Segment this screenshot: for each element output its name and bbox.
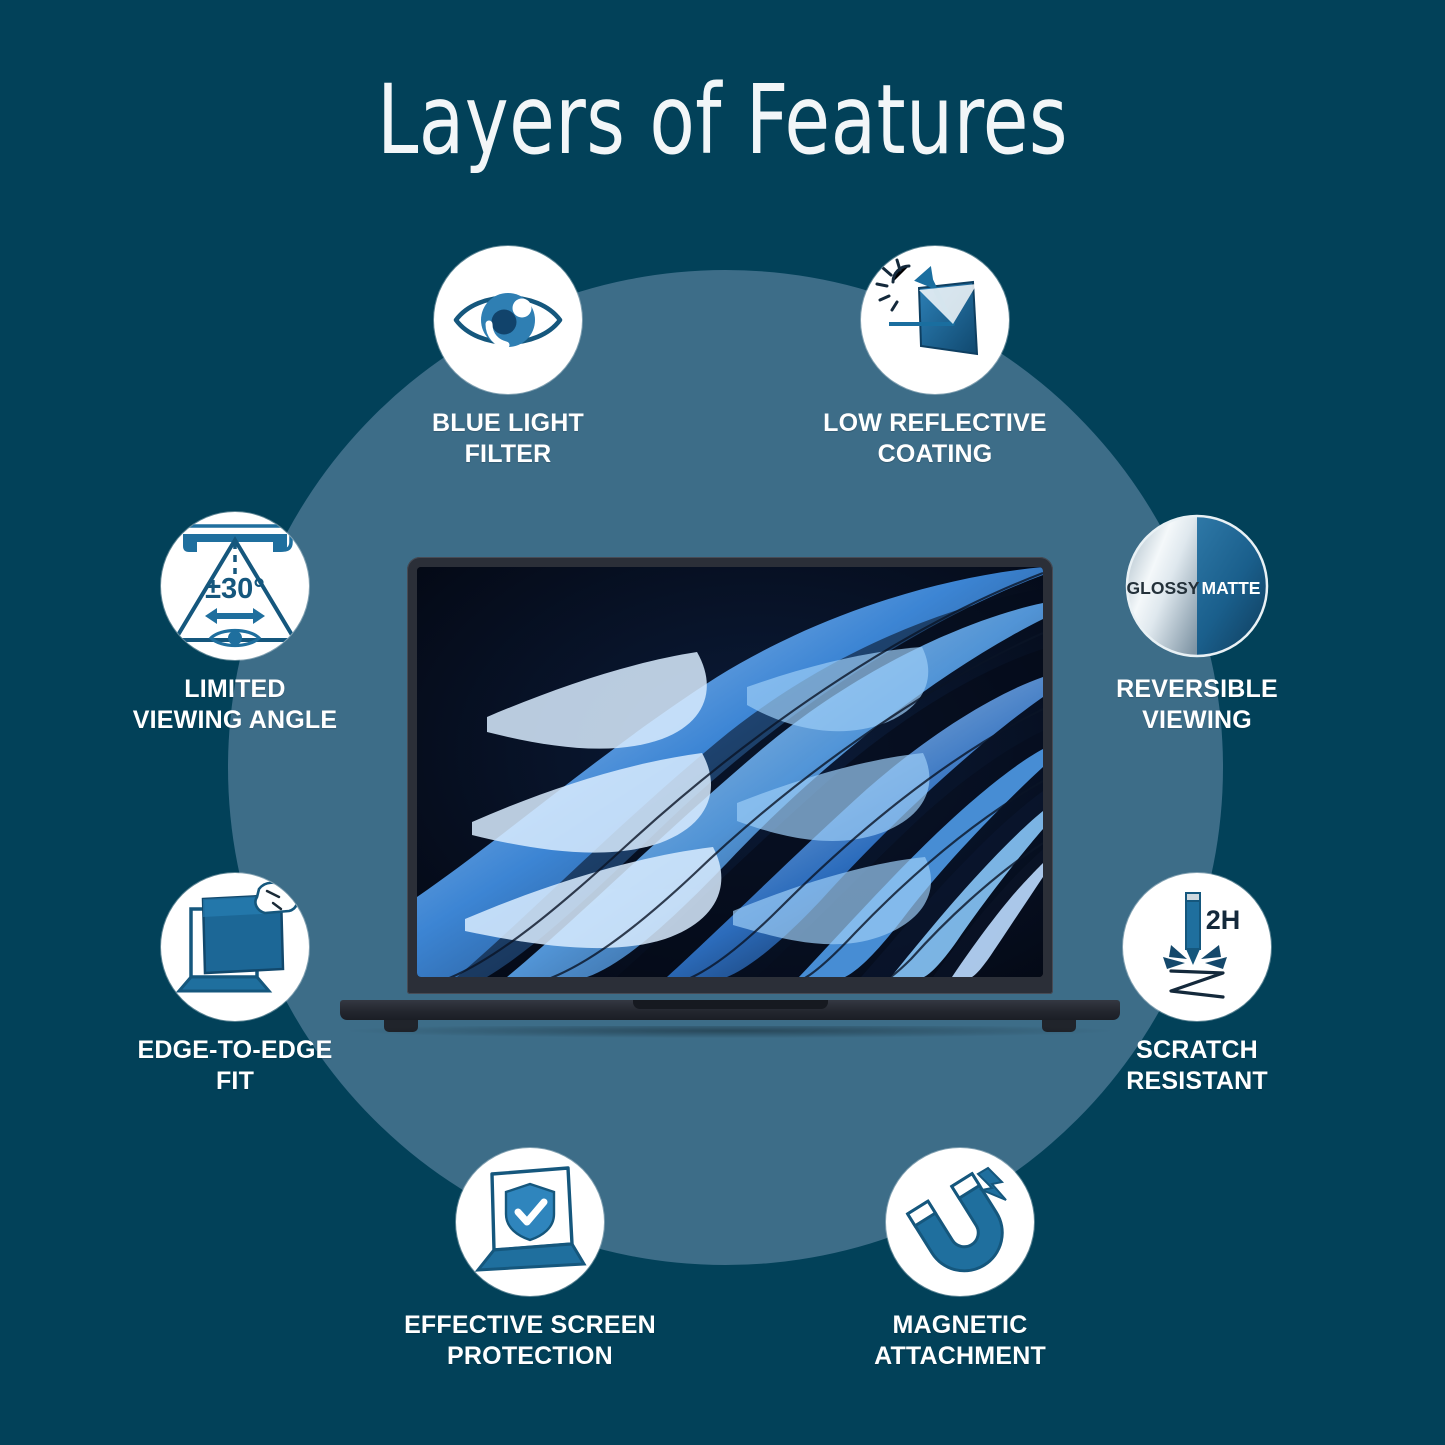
badge-effective-screen-protection [456, 1148, 604, 1296]
glossy-label: GLOSSY [1127, 578, 1200, 598]
wallpaper-ribbon-fan [417, 567, 1043, 977]
laptop-lid [407, 557, 1053, 994]
laptop-screen [417, 567, 1043, 977]
feature-caption: LOW REFLECTIVE COATING [805, 408, 1065, 469]
feature-edge-to-edge-fit[interactable]: EDGE-TO-EDGE FIT [105, 873, 365, 1096]
feature-caption: MAGNETIC ATTACHMENT [830, 1310, 1090, 1371]
badge-edge-to-edge-fit [161, 873, 309, 1021]
feature-caption: LIMITED VIEWING ANGLE [105, 674, 365, 735]
badge-blue-light-filter [434, 246, 582, 394]
feature-low-reflective-coating[interactable]: LOW REFLECTIVE COATING [805, 246, 1065, 469]
feature-scratch-resistant[interactable]: 2H SCRATCH RESISTANT [1067, 873, 1327, 1096]
badge-magnetic-attachment [886, 1148, 1034, 1296]
laptop-shadow [350, 1026, 1110, 1038]
feature-blue-light-filter[interactable]: BLUE LIGHT FILTER [378, 246, 638, 469]
horseshoe-magnet-icon [886, 1148, 1034, 1296]
feature-magnetic-attachment[interactable]: MAGNETIC ATTACHMENT [830, 1148, 1090, 1371]
glossy-matte-split-icon: GLOSSY MATTE [1123, 512, 1271, 660]
hardness-value: 2H [1206, 905, 1241, 935]
viewing-cone-icon: ±30° [161, 512, 309, 660]
page-title: Layers of Features [101, 72, 1344, 168]
badge-limited-viewing-angle: ±30° [161, 512, 309, 660]
laptop-base [340, 1000, 1120, 1020]
feature-reversible-viewing[interactable]: GLOSSY MATTE REVERSIBLE VIEWING [1067, 512, 1327, 735]
hand-applying-filter-icon [161, 873, 309, 1021]
feature-caption: EFFECTIVE SCREEN PROTECTION [400, 1310, 660, 1371]
laptop-shield-check-icon [456, 1148, 604, 1296]
badge-low-reflective-coating [861, 246, 1009, 394]
laptop-product-image [340, 557, 1120, 1042]
eye-icon [434, 246, 582, 394]
feature-caption: REVERSIBLE VIEWING [1067, 674, 1327, 735]
feature-caption: BLUE LIGHT FILTER [378, 408, 638, 469]
badge-scratch-resistant: 2H [1123, 873, 1271, 1021]
feature-limited-viewing-angle[interactable]: ±30° LIMITED VIEWING ANGLE [105, 512, 365, 735]
feature-caption: SCRATCH RESISTANT [1067, 1035, 1327, 1096]
badge-reversible-viewing: GLOSSY MATTE [1123, 512, 1271, 660]
viewing-angle-value: ±30° [205, 573, 265, 605]
feature-caption: EDGE-TO-EDGE FIT [105, 1035, 365, 1096]
infographic-canvas: Layers of Features [0, 0, 1445, 1445]
feature-effective-screen-protection[interactable]: EFFECTIVE SCREEN PROTECTION [400, 1148, 660, 1371]
matte-label: MATTE [1202, 578, 1261, 598]
pencil-scratch-icon: 2H [1123, 873, 1271, 1021]
sun-reflection-screen-icon [861, 246, 1009, 394]
